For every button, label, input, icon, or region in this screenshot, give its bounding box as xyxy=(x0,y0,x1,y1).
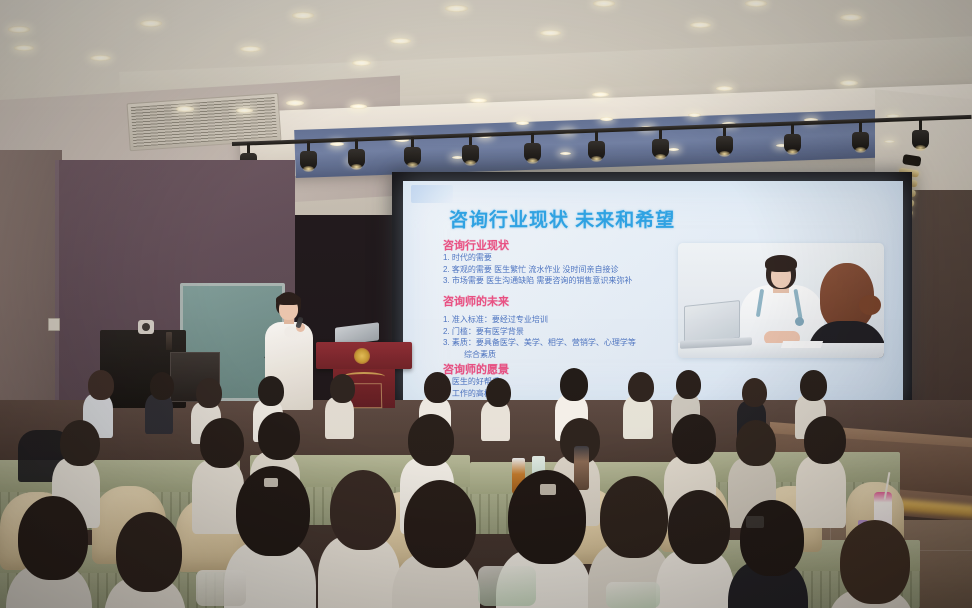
lectern-emblem-icon xyxy=(354,348,370,364)
audience-member-head xyxy=(740,500,804,576)
audience-member-head xyxy=(116,512,182,592)
track-spotlight xyxy=(652,129,669,161)
audience-member-head xyxy=(330,470,396,550)
audience-member-head xyxy=(628,372,654,402)
track-spotlight xyxy=(716,126,733,158)
downlight xyxy=(286,100,304,106)
track-spotlight xyxy=(588,131,605,163)
track-spotlight xyxy=(784,124,801,156)
audience-member-body xyxy=(623,396,653,439)
downlight xyxy=(593,0,615,7)
slide-section-heading-3: 咨询师的愿景 xyxy=(443,361,509,377)
audience-member-body xyxy=(481,401,510,441)
downlight xyxy=(236,108,253,113)
downlight xyxy=(668,148,679,151)
downlight xyxy=(445,5,468,12)
audience-member-head xyxy=(424,372,451,403)
camera-icon xyxy=(138,320,154,334)
hair-clip xyxy=(540,484,556,495)
track-spotlight xyxy=(524,133,541,165)
screen-glare xyxy=(411,185,453,203)
downlight xyxy=(516,121,529,125)
hair-clip xyxy=(746,516,764,528)
audience-member-head xyxy=(672,414,716,464)
downlight xyxy=(745,0,767,7)
audience-member-head xyxy=(668,490,730,564)
audience-member-head xyxy=(60,420,100,466)
downlight xyxy=(592,92,609,97)
downlight xyxy=(8,26,30,33)
slide-section-list-2: 1. 准入标准：要经过专业培训 2. 门槛：要有医学背景 3. 素质：要具备医学… xyxy=(443,314,636,360)
downlight xyxy=(688,113,701,117)
audience-member-head xyxy=(736,420,776,466)
audience-member-head xyxy=(804,416,846,464)
downlight xyxy=(240,46,261,52)
downlight xyxy=(716,86,733,91)
downlight xyxy=(292,12,314,19)
downlight xyxy=(690,22,711,28)
audience-member-head xyxy=(330,374,355,403)
slide-section-heading-2: 咨询师的未来 xyxy=(443,293,509,309)
downlight xyxy=(350,104,367,109)
audience-member-body xyxy=(325,397,354,439)
downlight xyxy=(330,142,344,146)
audience-member-head xyxy=(150,372,174,400)
audience-member-head xyxy=(600,476,668,558)
downlight xyxy=(352,60,371,66)
downlight xyxy=(140,20,162,27)
audience-member-head xyxy=(742,378,767,407)
conference-room-photo: 咨询行业现状 未来和希望 咨询行业现状 1. 时代的需要 2. 客观的需要 医生… xyxy=(0,0,972,608)
vent-slats xyxy=(131,97,277,147)
downlight xyxy=(840,14,862,21)
downlight xyxy=(560,152,571,155)
sconce-mount xyxy=(902,154,921,167)
downlight xyxy=(90,55,111,61)
audience-member-head xyxy=(258,376,284,406)
track-spotlight xyxy=(404,137,421,169)
track-spotlight xyxy=(300,141,317,173)
slide-section-list-1: 1. 时代的需要 2. 客观的需要 医生繁忙 流水作业 没时间亲自接诊 3. 市… xyxy=(443,252,632,287)
downlight xyxy=(176,106,194,112)
audience-member-head xyxy=(560,368,588,401)
downlight xyxy=(840,80,858,86)
thermos-flask xyxy=(574,446,589,490)
audience-member-head xyxy=(800,370,827,401)
slide-section-heading-1: 咨询行业现状 xyxy=(443,237,509,253)
bottle-on-cart xyxy=(166,332,172,350)
downlight xyxy=(14,45,34,51)
audience-member-body xyxy=(796,456,846,528)
downlight xyxy=(600,117,613,121)
audience-member-head xyxy=(404,480,476,568)
audience-member-head xyxy=(196,378,222,408)
audience-member-head xyxy=(408,414,454,466)
track-spotlight xyxy=(462,135,479,167)
audience-member-head xyxy=(88,370,114,400)
downlight xyxy=(470,98,487,103)
track-spotlight xyxy=(912,120,929,152)
audience-member-body xyxy=(145,394,173,434)
audience-member-head xyxy=(486,378,511,407)
projection-screen: 咨询行业现状 未来和希望 咨询行业现状 1. 时代的需要 2. 客观的需要 医生… xyxy=(403,181,903,407)
audience-member-head xyxy=(840,520,910,604)
slide-title: 咨询行业现状 未来和希望 xyxy=(449,205,675,232)
downlight xyxy=(540,30,561,36)
plastic-bag xyxy=(478,566,536,606)
plastic-bag xyxy=(606,582,660,608)
plastic-bag xyxy=(196,570,246,606)
track-spotlight xyxy=(852,122,869,154)
audience-member-head xyxy=(18,496,88,580)
audience-member-head xyxy=(258,412,300,460)
audience-member-head xyxy=(676,370,701,399)
hair-clip xyxy=(264,478,278,487)
downlight xyxy=(390,38,411,44)
downlight xyxy=(884,140,895,143)
wall-socket xyxy=(48,318,60,331)
audience-member-head xyxy=(200,418,244,468)
track-spotlight xyxy=(348,139,365,171)
doctor-patient-consultation-photo xyxy=(678,243,884,358)
